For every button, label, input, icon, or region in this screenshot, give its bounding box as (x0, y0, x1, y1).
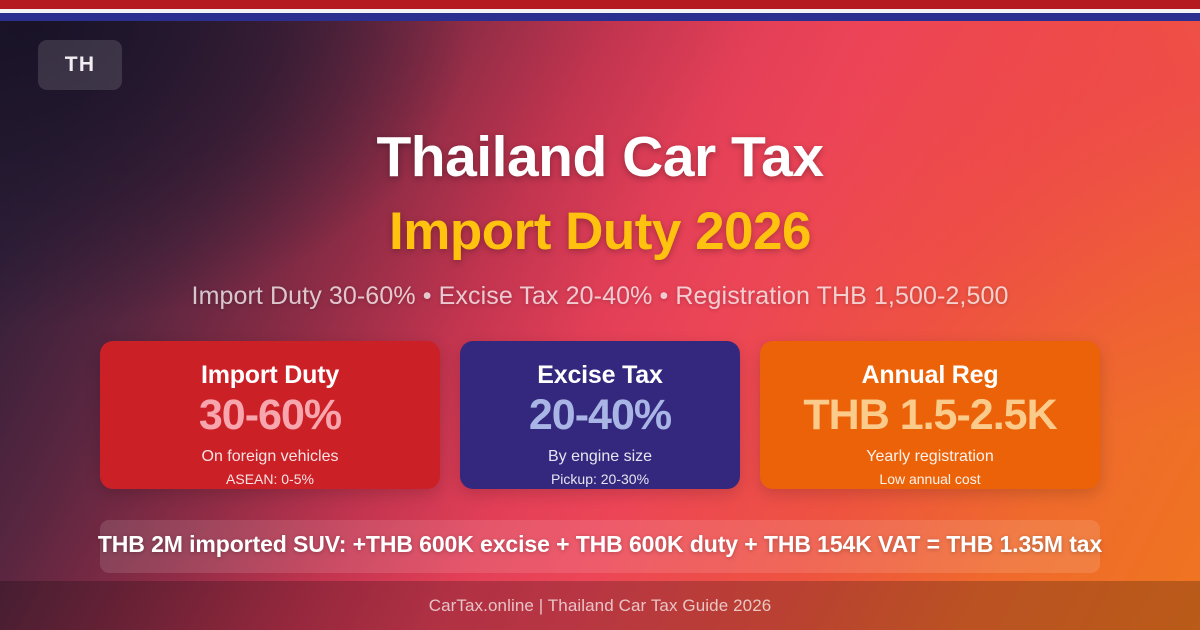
stat-card-label: Annual Reg (760, 361, 1100, 390)
page-subtitle-highlight: Import Duty 2026 (0, 204, 1200, 260)
stat-card-annual-reg: Annual Reg THB 1.5-2.5K Yearly registrat… (760, 341, 1100, 489)
page-summary-line: Import Duty 30-60% • Excise Tax 20-40% •… (0, 282, 1200, 311)
header-block: Thailand Car Tax Import Duty 2026 Import… (0, 128, 1200, 311)
example-banner-text: THB 2M imported SUV: +THB 600K excise + … (0, 531, 1200, 558)
thai-flag-bar (0, 0, 1200, 21)
stat-card-value: THB 1.5-2.5K (760, 391, 1100, 439)
stat-card-subnote: ASEAN: 0-5% (100, 470, 440, 489)
stat-card-subnote: Pickup: 20-30% (460, 470, 740, 489)
stat-card-label: Import Duty (100, 361, 440, 390)
footer-band: CarTax.online | Thailand Car Tax Guide 2… (0, 581, 1200, 630)
flag-stripe-red (0, 0, 1200, 9)
poster-canvas: TH Thailand Car Tax Import Duty 2026 Imp… (0, 0, 1200, 630)
stat-card-value: 20-40% (460, 391, 740, 439)
page-title: Thailand Car Tax (0, 128, 1200, 188)
stat-card-label: Excise Tax (460, 361, 740, 390)
country-code-label: TH (65, 53, 95, 77)
country-code-badge: TH (38, 40, 122, 90)
flag-stripe-blue (0, 13, 1200, 21)
stat-card-group: Import Duty 30-60% On foreign vehicles A… (100, 341, 1100, 489)
stat-card-excise-tax: Excise Tax 20-40% By engine size Pickup:… (460, 341, 740, 489)
stat-card-subnote: Low annual cost (760, 470, 1100, 489)
footer-text: CarTax.online | Thailand Car Tax Guide 2… (0, 596, 1200, 616)
stat-card-note: On foreign vehicles (100, 446, 440, 468)
stat-card-value: 30-60% (100, 391, 440, 439)
stat-card-import-duty: Import Duty 30-60% On foreign vehicles A… (100, 341, 440, 489)
stat-card-note: By engine size (460, 446, 740, 468)
stat-card-note: Yearly registration (760, 446, 1100, 468)
